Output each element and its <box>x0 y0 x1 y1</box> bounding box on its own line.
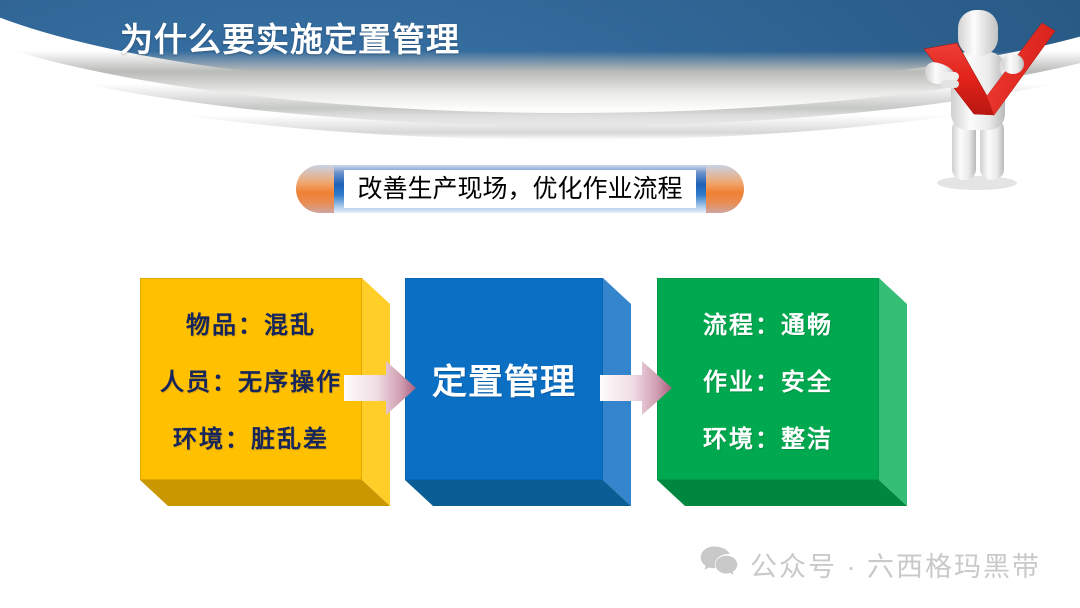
subtitle-banner: 改善生产现场，优化作业流程 <box>296 165 744 213</box>
arrow-right-icon-1 <box>344 360 416 416</box>
page-title: 为什么要实施定置管理 <box>120 13 460 61</box>
wechat-icon <box>700 545 738 584</box>
result-box: 流程：通畅 作业：安全 环境：整洁 <box>657 278 907 508</box>
arrow-right-icon-2 <box>600 360 672 416</box>
problem-line-1: 物品：混乱 <box>186 305 316 340</box>
slide-canvas: 为什么要实施定置管理 <box>0 0 1080 608</box>
person-with-red-checkmark-icon <box>895 0 1070 190</box>
process-line-1: 定置管理 <box>432 354 576 405</box>
subtitle-text: 改善生产现场，优化作业流程 <box>344 170 696 208</box>
problem-box-face: 物品：混乱 人员：无序操作 环境：脏乱差 <box>140 278 362 480</box>
process-box-face: 定置管理 <box>405 278 603 480</box>
result-line-3: 环境：整洁 <box>703 419 833 454</box>
result-line-1: 流程：通畅 <box>703 305 833 340</box>
result-box-face: 流程：通畅 作业：安全 环境：整洁 <box>657 278 879 480</box>
watermark-text: 公众号 · 六西格玛黑带 <box>750 545 1041 584</box>
problem-line-2: 人员：无序操作 <box>160 362 342 397</box>
problem-line-3: 环境：脏乱差 <box>173 419 329 454</box>
result-line-2: 作业：安全 <box>703 362 833 397</box>
watermark: 公众号 · 六西格玛黑带 <box>700 545 1041 584</box>
